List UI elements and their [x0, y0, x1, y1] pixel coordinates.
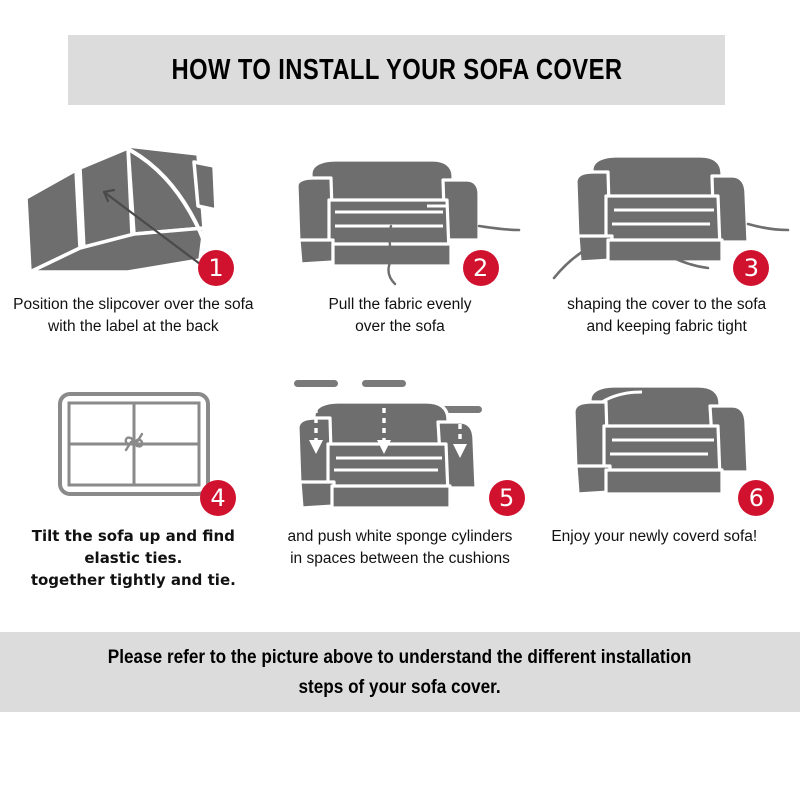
step-3: 3 shaping the cover to the sofa and keep… — [533, 140, 800, 372]
step-number-badge: 1 — [198, 250, 234, 286]
step-number-badge: 4 — [200, 480, 236, 516]
step-4-caption: Tilt the sofa up and find elastic ties. … — [8, 526, 259, 591]
step-2: 2 Pull the fabric evenly over the sofa — [267, 140, 534, 372]
steps-grid: 1 Position the slipcover over the sofa w… — [0, 140, 800, 604]
step-1-caption: Position the slipcover over the sofa wit… — [8, 294, 259, 339]
step-2-caption: Pull the fabric evenly over the sofa — [275, 294, 526, 339]
step-3-caption: shaping the cover to the sofa and keepin… — [541, 294, 792, 339]
footer-note: Please refer to the picture above to und… — [108, 642, 692, 702]
step-number-badge: 5 — [489, 480, 525, 516]
page-title: HOW TO INSTALL YOUR SOFA COVER — [171, 54, 622, 87]
footer-banner: Please refer to the picture above to und… — [0, 632, 800, 712]
step-5: 5 and push white sponge cylinders in spa… — [267, 372, 534, 604]
header-banner: HOW TO INSTALL YOUR SOFA COVER — [68, 35, 725, 105]
step-6: 6 Enjoy your newly coverd sofa! — [533, 372, 800, 604]
step-5-caption: and push white sponge cylinders in space… — [275, 526, 526, 571]
step-1: 1 Position the slipcover over the sofa w… — [0, 140, 267, 372]
step-4: 4 Tilt the sofa up and find elastic ties… — [0, 372, 267, 604]
step-number-badge: 2 — [463, 250, 499, 286]
step-6-caption: Enjoy your newly coverd sofa! — [533, 526, 800, 548]
